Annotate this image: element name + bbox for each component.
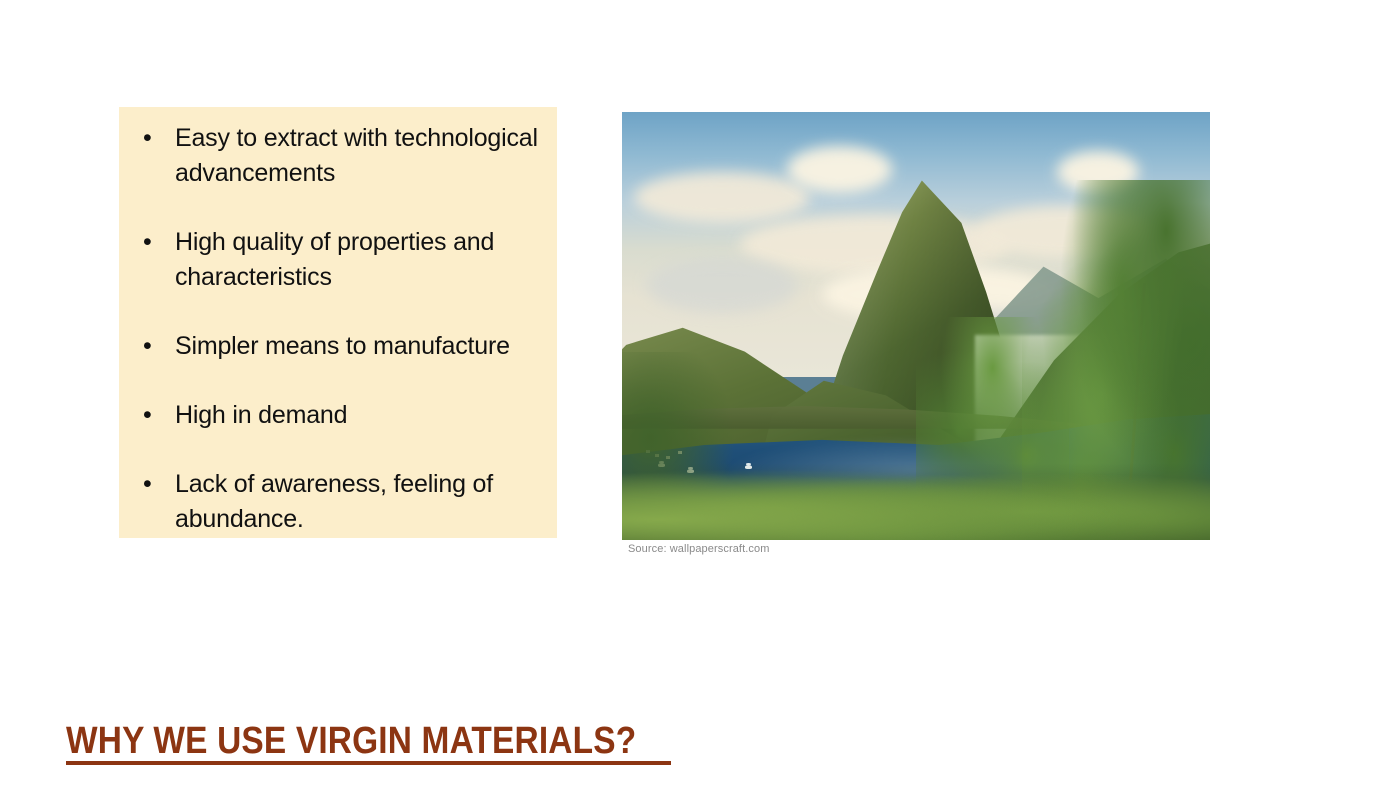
bullet-marker-icon: •	[129, 225, 175, 260]
list-item: • High quality of properties and charact…	[129, 225, 547, 295]
image-source-caption: Source: wallpaperscraft.com	[628, 543, 769, 555]
list-item: • High in demand	[129, 398, 547, 433]
bullet-panel: • Easy to extract with technological adv…	[119, 107, 557, 538]
list-item: • Lack of awareness, feeling of abundanc…	[129, 467, 547, 537]
bullet-text: High quality of properties and character…	[175, 225, 547, 295]
cloud-shape	[646, 258, 799, 314]
bullet-text: High in demand	[175, 398, 547, 433]
bullet-marker-icon: •	[129, 398, 175, 433]
list-item: • Easy to extract with technological adv…	[129, 121, 547, 191]
bullet-marker-icon: •	[129, 467, 175, 502]
foreground-foliage	[622, 463, 1210, 540]
bullet-text: Simpler means to manufacture	[175, 329, 547, 364]
cloud-shape	[634, 172, 810, 223]
bullet-marker-icon: •	[129, 121, 175, 156]
page-title: WHY WE USE VIRGIN MATERIALS?	[66, 719, 636, 763]
bullet-text: Easy to extract with technological advan…	[175, 121, 547, 191]
bullet-list: • Easy to extract with technological adv…	[129, 121, 547, 537]
slide-canvas: • Easy to extract with technological adv…	[0, 0, 1400, 787]
slide-image-container	[622, 112, 1210, 540]
bullet-marker-icon: •	[129, 329, 175, 364]
bullet-text: Lack of awareness, feeling of abundance.	[175, 467, 547, 537]
landscape-photo	[622, 112, 1210, 540]
list-item: • Simpler means to manufacture	[129, 329, 547, 364]
title-underline	[66, 761, 671, 765]
